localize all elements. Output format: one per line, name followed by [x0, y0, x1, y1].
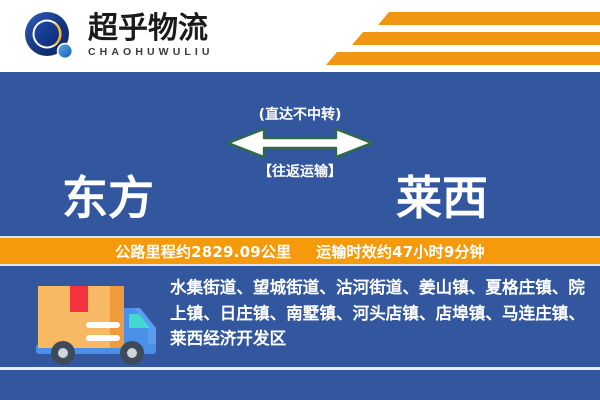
stripe-middle	[352, 32, 600, 45]
double-headed-arrow-icon	[224, 127, 376, 159]
mileage-text: 公路里程约2829.09公里	[115, 243, 291, 261]
coverage-panel: 水集街道、望城街道、沽河街道、姜山镇、夏格庄镇、院上镇、日庄镇、南墅镇、河头店镇…	[0, 266, 600, 400]
header: 超乎物流 CHAOHUWULIU	[0, 0, 600, 72]
orange-speed-stripes-icon	[320, 10, 600, 68]
stripe-bottom	[326, 52, 600, 65]
distance-bar: 公路里程约2829.09公里 运输时效约47小时9分钟	[0, 236, 600, 266]
duration-text: 运输时效约47小时9分钟	[316, 243, 485, 261]
bottom-divider	[0, 367, 600, 370]
brand-text: 超乎物流 CHAOHUWULIU	[88, 13, 214, 58]
route-middle-block: (直达不中转) 【往返运输】	[224, 108, 376, 181]
stripe-top	[378, 12, 600, 25]
coverage-areas-text: 水集街道、望城街道、沽河街道、姜山镇、夏格庄镇、院上镇、日庄镇、南墅镇、河头店镇…	[170, 275, 588, 352]
destination-city: 莱西	[396, 175, 488, 221]
circle-crescent-logo-icon	[22, 7, 80, 65]
brand-name-en: CHAOHUWULIU	[88, 47, 214, 59]
brand-block: 超乎物流 CHAOHUWULIU	[22, 7, 214, 65]
direct-note: (直达不中转)	[224, 108, 376, 123]
brand-name-cn: 超乎物流	[88, 13, 214, 45]
roundtrip-note: 【往返运输】	[224, 165, 376, 180]
origin-city: 东方	[62, 175, 154, 221]
route-panel: 东方 (直达不中转) 【往返运输】 莱西	[0, 72, 600, 236]
logistics-route-poster: 超乎物流 CHAOHUWULIU 东方 (直达不中转) 【往返运输】 莱西 公	[0, 0, 600, 400]
distance-text-group: 公路里程约2829.09公里 运输时效约47小时9分钟	[115, 241, 485, 262]
delivery-truck-icon	[28, 274, 166, 370]
